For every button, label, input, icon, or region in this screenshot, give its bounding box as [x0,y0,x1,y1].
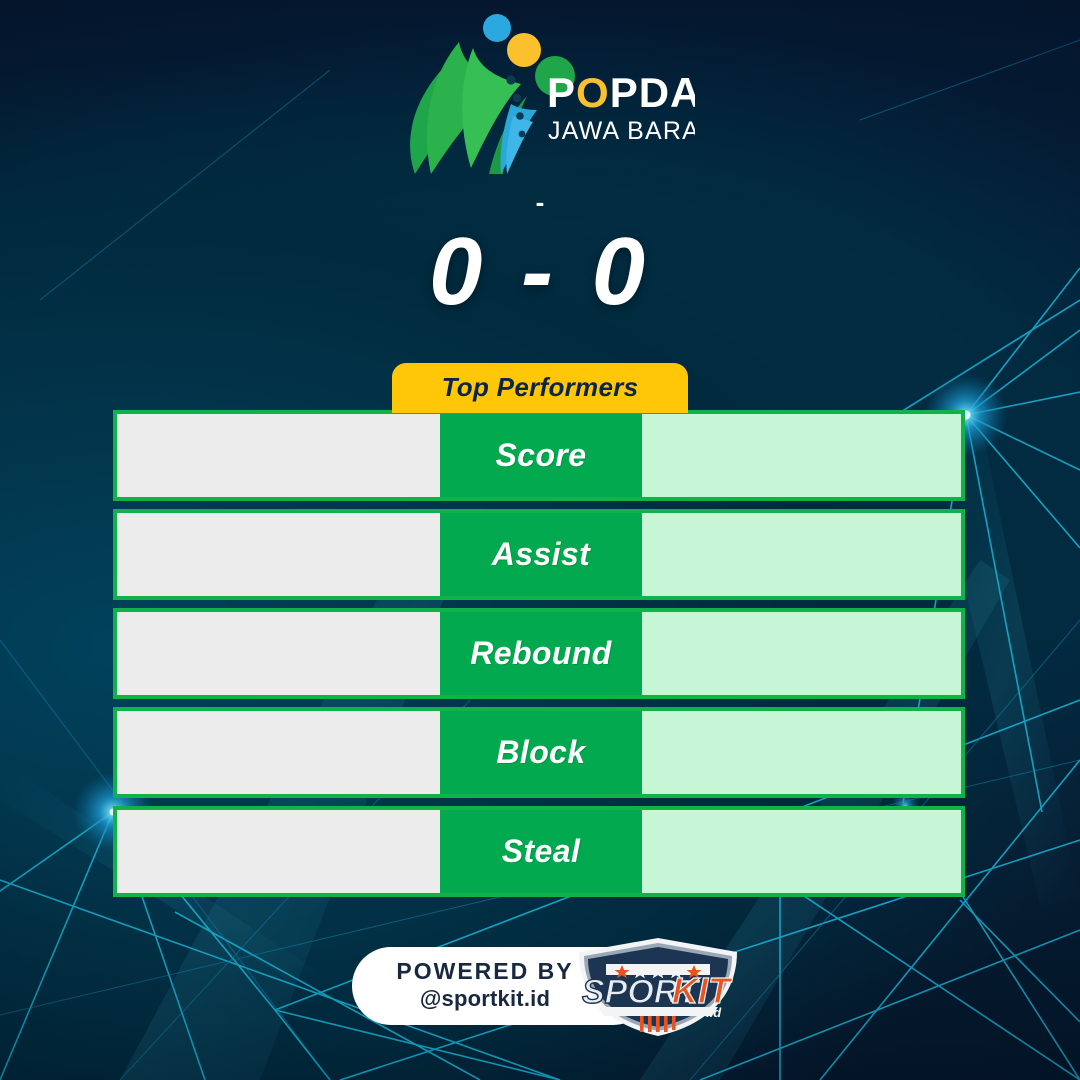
player-name-cell [113,707,440,798]
stat-label: Score [496,437,587,474]
powered-by-label: POWERED BY [396,959,573,983]
stat-label-cell: Steal [440,806,642,897]
stat-value-cell [642,608,965,699]
table-row: Steal [113,806,965,897]
logo-circle-yellow [507,33,541,67]
top-performers-banner: Top Performers [392,363,688,413]
score-display: 0 - 0 [0,224,1080,320]
stat-label: Assist [492,536,590,573]
stat-label-cell: Score [440,410,642,501]
sportkit-word-kit: KIT [672,970,733,1011]
sportkit-logo: SPORT KIT .id [566,937,750,1037]
player-name-cell [113,410,440,501]
player-name-cell [113,806,440,897]
player-name-cell [113,608,440,699]
stat-label-cell: Block [440,707,642,798]
stat-label: Rebound [470,635,611,672]
logo-subtitle: JAWA BARAT 2025 [548,117,695,145]
sportkit-tld: .id [706,1005,722,1020]
event-logo: POPDA XIV JAWA BARAT 2025 [0,8,1080,176]
top-performers-banner-label: Top Performers [442,372,639,402]
logo-circle-blue [483,14,511,42]
table-row: Assist [113,509,965,600]
footer: POWERED BY @sportkit.id SPORT KIT [0,947,1080,1029]
player-name-cell [113,509,440,600]
stat-value-cell [642,806,965,897]
stat-label-cell: Rebound [440,608,642,699]
stat-value-cell [642,707,965,798]
stat-label-cell: Assist [440,509,642,600]
popda-logo-svg: POPDA XIV JAWA BARAT 2025 [385,8,695,176]
team-name-placeholder: - [0,189,1080,215]
stat-value-cell [642,410,965,501]
table-row: Block [113,707,965,798]
stat-label: Steal [502,833,580,870]
sportkit-handle: @sportkit.id [420,985,550,1013]
stat-label: Block [496,734,585,771]
table-row: Score [113,410,965,501]
logo-title: POPDA XIV [547,69,695,116]
top-performers-table: Score Assist Rebound Block Steal [113,410,965,897]
table-row: Rebound [113,608,965,699]
stat-value-cell [642,509,965,600]
